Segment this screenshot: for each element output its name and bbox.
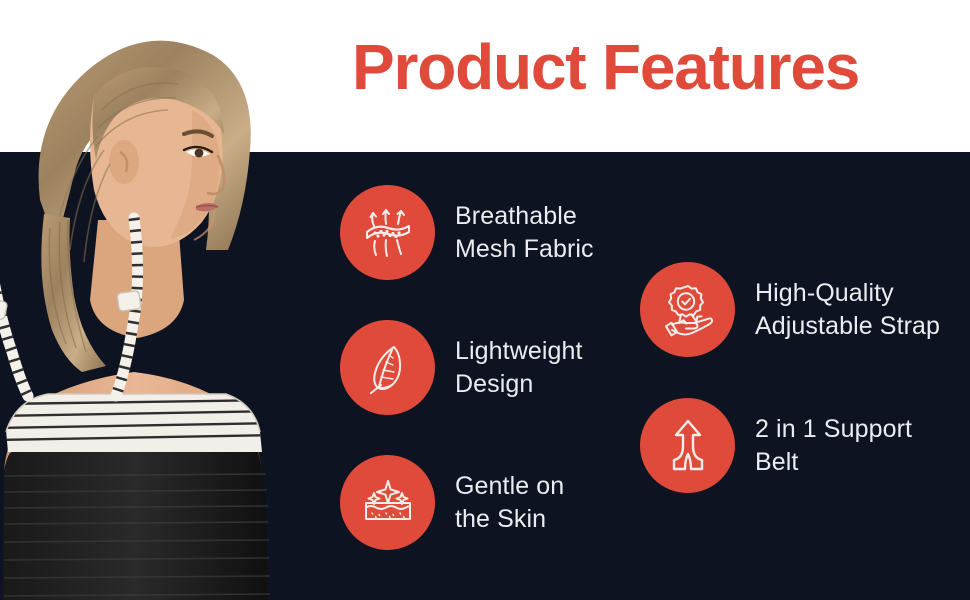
feature-label-line1: 2 in 1 Support [755, 413, 912, 446]
feature-item-lightweight-design[interactable]: Lightweight Design [340, 320, 630, 415]
feature-label-line2: the Skin [455, 503, 564, 536]
feature-label-line1: Breathable [455, 200, 594, 233]
hand-quality-badge-icon [640, 262, 735, 357]
feature-column-right: High-Quality Adjustable Strap 2 in 1 Sup… [640, 262, 970, 534]
merging-arrows-up-icon [640, 398, 735, 493]
feature-item-2-in-1-support-belt[interactable]: 2 in 1 Support Belt [640, 398, 970, 493]
feature-item-high-quality-strap[interactable]: High-Quality Adjustable Strap [640, 262, 970, 357]
feature-label-line2: Design [455, 368, 583, 401]
feature-label-line1: High-Quality [755, 277, 940, 310]
feature-label-line2: Belt [755, 446, 912, 479]
feature-label: Lightweight Design [455, 335, 583, 401]
feature-label: Gentle on the Skin [455, 470, 564, 536]
product-features-banner: Product Features [0, 0, 970, 600]
page-title: Product Features [352, 34, 898, 101]
feature-label: Breathable Mesh Fabric [455, 200, 594, 266]
feature-label-line2: Adjustable Strap [755, 310, 940, 343]
feature-label-line2: Mesh Fabric [455, 233, 594, 266]
feature-label-line1: Lightweight [455, 335, 583, 368]
feature-item-gentle-on-skin[interactable]: Gentle on the Skin [340, 455, 630, 550]
feather-icon [340, 320, 435, 415]
feature-item-breathable-mesh[interactable]: Breathable Mesh Fabric [340, 185, 630, 280]
skin-sparkle-icon [340, 455, 435, 550]
feature-label: 2 in 1 Support Belt [755, 413, 912, 479]
feature-label: High-Quality Adjustable Strap [755, 277, 940, 343]
breathable-mesh-icon [340, 185, 435, 280]
feature-label-line1: Gentle on [455, 470, 564, 503]
feature-column-left: Breathable Mesh Fabric [340, 185, 630, 590]
